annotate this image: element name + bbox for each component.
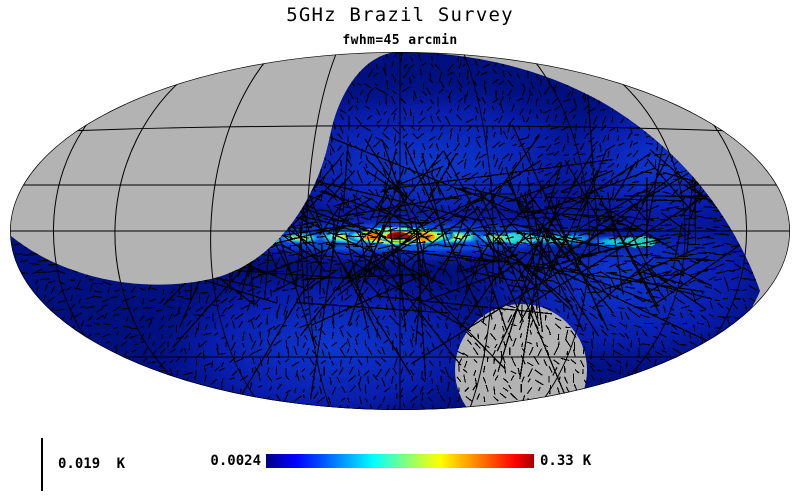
sky-map-figure: 5GHz Brazil Survey fwhm=45 arcmin (0, 0, 800, 500)
mollweide-map (0, 46, 800, 416)
colorbar-max-label: 0.33K (540, 453, 591, 469)
colorbar-unit-label: K (583, 453, 591, 469)
polarisation-scale-rule (41, 438, 43, 491)
polarisation-scale-key: 0.019 K (30, 438, 210, 494)
map-canvas (0, 46, 800, 416)
colorbar-min-label: 0.0024 (210, 453, 261, 469)
polarisation-scale-value: 0.019 (58, 456, 100, 472)
polarisation-scale-label: 0.019 K (58, 456, 125, 472)
colorbar-max-value: 0.33 (540, 453, 574, 469)
colorbar[interactable]: 0.0024 0.33K (266, 454, 534, 468)
polarisation-scale-unit: K (117, 456, 125, 472)
page-title: 5GHz Brazil Survey (0, 4, 800, 26)
